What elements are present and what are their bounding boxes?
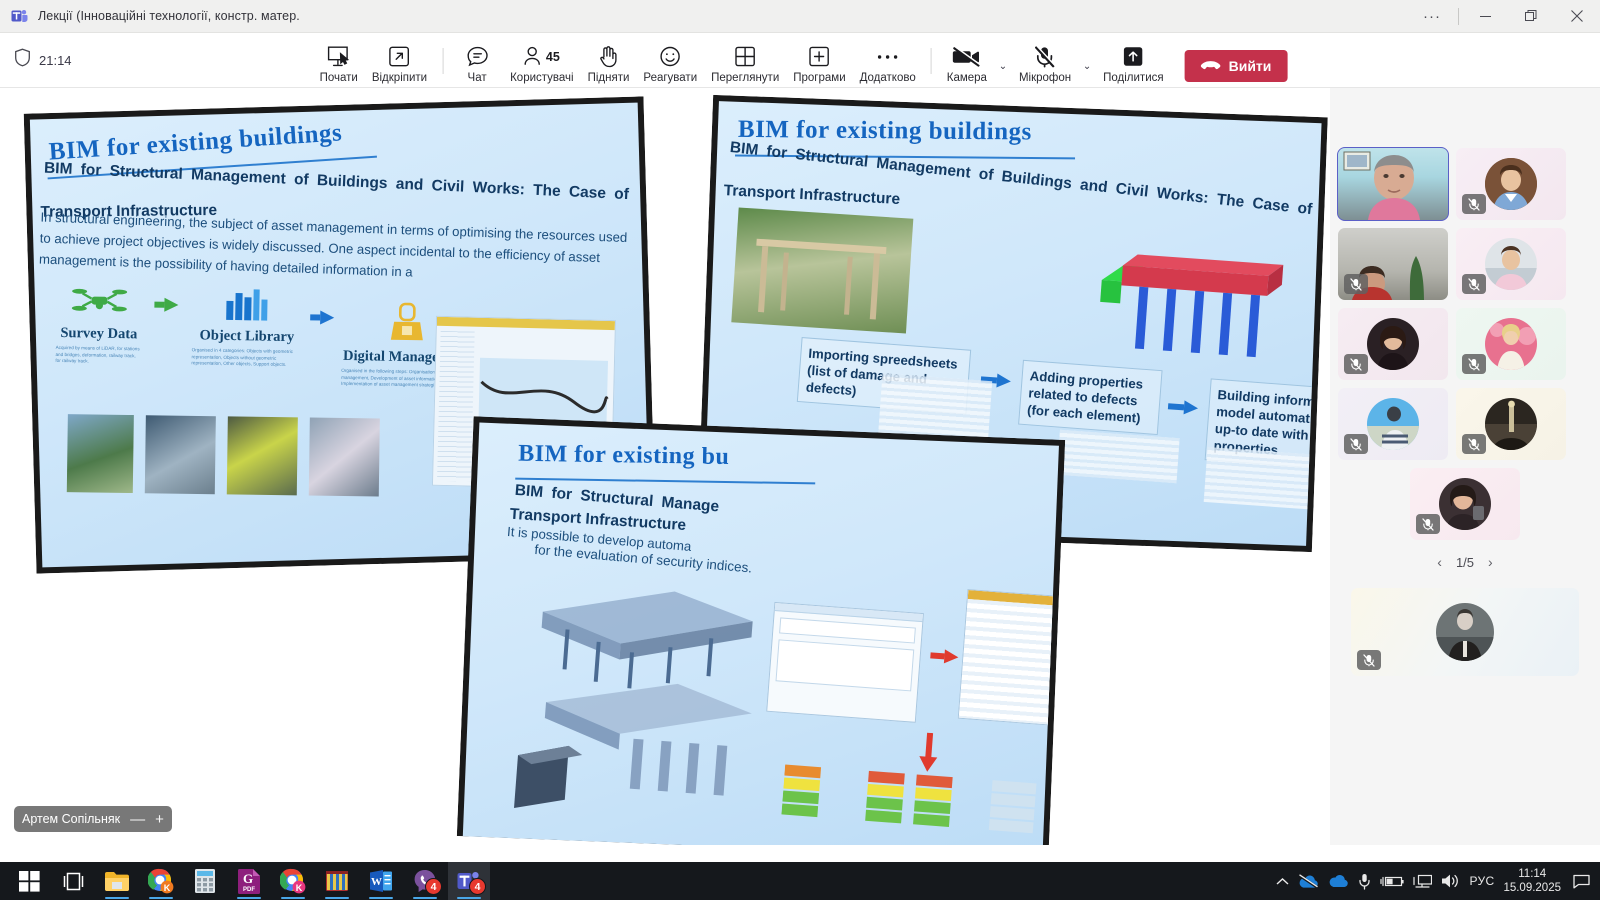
projected-slide-3: BIM for existing bu BIM for Structural M… [457,416,1065,845]
titlebar-divider [1458,8,1459,25]
participant-tile-3[interactable] [1338,228,1448,300]
meeting-toolbar: 21:14 Почати [0,33,1600,88]
toolbar-label-chat: Чат [468,72,487,84]
volume-icon[interactable] [1441,873,1461,889]
toolbar-left: 21:14 [0,48,72,72]
slide-2-subtitle-line2: Transport Infrastructure [723,182,900,209]
view-grid-icon [735,44,756,70]
slide-3-arrow-head [944,649,959,664]
slide-2-heading: BIM for existing buildings [738,116,1032,147]
avatar [1436,603,1494,661]
avatar [1485,238,1537,290]
participant-tile-8[interactable] [1456,388,1566,460]
participant-tile-9[interactable] [1410,468,1520,540]
slide-1-photo-strip [67,414,380,496]
slide-3-arrow-stem [930,652,944,659]
gate-icon [390,329,424,347]
participant-tile-2[interactable] [1456,148,1566,220]
toolbar-label-apps: Програми [793,72,845,84]
toolbar-item-more[interactable]: Додатково [853,38,923,88]
slide-1-photo-3 [227,416,298,495]
slide-1-flow-detail-1: Acquired by means of LiDAR, for stations… [55,345,141,366]
avatar [1485,318,1537,370]
microphone-icon[interactable] [1358,873,1371,890]
teams-logo-icon [10,7,28,25]
svg-text:W: W [371,876,382,888]
slide-2-arrow-2-head [1184,400,1199,415]
participant-tile-6[interactable] [1456,308,1566,380]
clock[interactable]: 11:14 15.09.2025 [1503,867,1561,896]
slide-3-matrix [780,761,1045,845]
participant-tile-10[interactable] [1351,588,1579,676]
network-icon[interactable] [1413,874,1432,889]
toolbar-label-share: Поділитися [1103,72,1163,84]
meeting-timer: 21:14 [39,53,72,68]
toolbar-item-start-present[interactable]: Почати [313,38,365,88]
share-up-icon [1123,44,1144,70]
pagination-next-chevron-icon[interactable]: › [1488,554,1493,570]
toolbar-label-participants: Користувачі [510,72,573,84]
slide-3-beam-diagrams [508,570,776,833]
battery-charging-icon[interactable] [1380,875,1404,888]
restore-button[interactable] [1508,0,1554,33]
leave-button-label: Вийти [1229,58,1272,74]
avatar [1485,398,1537,450]
close-button[interactable] [1554,0,1600,33]
shared-content-stage[interactable]: BIM for existing buildings BIM for Struc… [0,88,1330,845]
mute-badge [1416,514,1440,534]
camera-off-icon [953,44,981,70]
toolbar-label-reactions: Реагувати [643,72,697,84]
slide-1-flow-detail-2: Organised in 4 categories: Objects with … [191,347,301,368]
slide-2-table-3 [1204,447,1322,511]
slide-1-heading: BIM for existing buildings [48,119,343,166]
pagination-label: 1/5 [1456,555,1474,570]
titlebar-more-button[interactable]: ··· [1409,0,1455,33]
toolbar-item-raise-hand[interactable]: Підняти [581,38,637,88]
winrar-icon[interactable] [316,862,358,900]
mute-badge [1344,274,1368,294]
gpdf-icon[interactable]: G PDF [228,862,270,900]
svg-text:PDF: PDF [243,887,255,893]
slide-3-arrow-right [930,648,959,664]
avatar [1367,318,1419,370]
microphone-off-icon [1034,44,1056,70]
participant-tile-grid [1338,148,1592,540]
word-icon[interactable]: W [360,862,402,900]
slide-1-flow-label-1: Survey Data [56,325,142,343]
participant-roster: ‹ 1/5 › [1330,88,1600,845]
toolbar-actions: Почати Відкріпити [313,33,1288,88]
slide-1-body: In structural engineering, the subject o… [39,207,641,291]
apps-plus-icon [809,44,830,70]
avatar [1439,478,1491,530]
slide-1-arrow-1 [164,298,178,312]
slide-2-subtitle-line1: BIM for Structural Management of Buildin… [729,139,1318,220]
teams-badge: 4 [469,878,486,895]
toolbar-item-share[interactable]: Поділитися [1096,38,1170,88]
slide-3-rule [515,478,815,485]
svg-text:G: G [243,871,253,886]
window-title: Лекції (Інноваційні технології, констр. … [38,9,300,23]
raise-hand-icon [598,44,618,70]
roster-separator [1338,570,1592,588]
teams-icon[interactable]: 4 [448,862,490,900]
slide-1-arrow-2 [320,311,334,325]
zoom-out-button[interactable]: — [130,812,145,827]
slide-1-photo-4 [309,418,380,497]
slide-1-subtitle-line1: BIM for Structural Management of Buildin… [44,160,634,205]
slide-3-dialog [766,602,924,723]
avatar [1367,398,1419,450]
presenter-name-label: Артем Сопільняк [22,812,120,826]
svg-text:K: K [296,883,303,893]
viber-badge: 4 [425,878,442,895]
taskbar-apps: K G PDF [0,862,490,900]
title-bar: Лекції (Інноваційні технології, констр. … [0,0,1600,33]
slide-2-photo [731,207,913,333]
language-indicator[interactable]: РУС [1470,874,1495,888]
task-view-icon[interactable] [52,862,94,900]
slide-2-arrow-2 [1168,399,1199,415]
slide-2-arrow-1-head [996,374,1011,389]
mute-badge [1462,274,1486,294]
roster-pagination: ‹ 1/5 › [1338,554,1592,570]
toolbar-item-apps[interactable]: Програми [786,38,852,88]
toolbar-item-reactions[interactable]: Реагувати [636,38,704,88]
windows-start-icon[interactable] [8,862,50,900]
toolbar-item-microphone[interactable]: Мікрофон [1012,38,1078,88]
toolbar-label-view: Переглянути [711,72,779,84]
slide-surface-3: BIM for existing bu BIM for Structural M… [463,423,1059,845]
toolbar-divider-1 [442,48,443,74]
window-controls: ··· [1409,0,1600,33]
present-screen-icon [326,44,351,70]
slide-2-arrow-2-stem [1168,403,1184,410]
reactions-smiley-icon [660,44,681,70]
mute-badge [1357,650,1381,670]
chrome-k-icon[interactable]: K [140,862,182,900]
toolbar-item-participants[interactable]: 45 Користувачі [503,38,580,88]
microphone-chevron-down-icon[interactable]: ⌄ [1078,61,1096,88]
viber-icon[interactable]: 4 [404,862,446,900]
svg-text:K: K [164,883,171,893]
people-icon: 45 [524,44,560,70]
toolbar-label-start: Почати [320,72,358,84]
pagination-prev-chevron-icon[interactable]: ‹ [1437,554,1442,570]
system-tray: РУС 11:14 15.09.2025 [1276,867,1600,896]
participant-tile-1[interactable] [1338,148,1448,220]
slide-1-photo-1 [67,414,134,493]
toolbar-label-more: Додатково [860,72,916,84]
slide-2-table-2 [1057,430,1180,483]
slide-3-heading: BIM for existing bu [518,441,729,471]
toolbar-divider-2 [931,48,932,74]
onedrive-offline-icon[interactable] [1298,874,1319,889]
clock-time: 11:14 [1503,867,1561,881]
slide-1-arrow-1-stem [154,302,164,308]
toolbar-label-microphone: Мікрофон [1019,72,1071,84]
slide-1-flow-label-2: Object Library [192,327,302,346]
presenter-name-pill: Артем Сопільняк — + [14,806,172,832]
shield-icon [14,48,31,72]
toolbar-item-chat[interactable]: Чат [451,38,503,88]
mute-badge [1462,194,1486,214]
bar-library-icon [224,308,270,326]
toolbar-label-pop-out: Відкріпити [372,72,427,84]
hang-up-icon [1201,58,1221,74]
pop-out-icon [389,44,410,70]
calculator-icon[interactable] [184,862,226,900]
toolbar-label-camera: Камера [947,72,987,84]
participant-tile-4[interactable] [1456,228,1566,300]
slide-3-data-table [958,589,1059,733]
drone-icon [71,305,127,323]
mute-badge [1462,434,1486,454]
windows-taskbar: K G PDF [0,862,1600,900]
toolbar-item-camera[interactable]: Камера [940,38,994,88]
mute-badge [1462,354,1486,374]
zoom-in-button[interactable]: + [155,812,164,827]
toolbar-label-raise-hand: Підняти [588,72,630,84]
slide-1-arrow-2-stem [310,314,320,320]
notification-icon[interactable] [1570,874,1592,889]
clock-date: 15.09.2025 [1503,881,1561,895]
camera-chevron-down-icon[interactable]: ⌄ [994,61,1012,88]
onedrive-icon[interactable] [1328,874,1349,888]
mute-badge [1344,434,1368,454]
participant-tile-5[interactable] [1338,308,1448,380]
slide-2-bridge-model [1089,240,1298,394]
leave-meeting-button[interactable]: Вийти [1185,50,1288,82]
chat-icon [466,44,488,70]
participant-tile-7[interactable] [1338,388,1448,460]
minimize-button[interactable] [1462,0,1508,33]
avatar [1485,158,1537,210]
tray-chevron-up-icon[interactable] [1276,877,1289,886]
chrome-pink-k-icon[interactable]: K [272,862,314,900]
toolbar-item-view[interactable]: Переглянути [704,38,786,88]
mute-badge [1344,354,1368,374]
slide-1-photo-2 [145,415,216,494]
toolbar-item-pop-out[interactable]: Відкріпити [365,38,434,88]
teams-meeting-window: Лекції (Інноваційні технології, констр. … [0,0,1600,900]
more-ellipsis-icon [877,44,899,70]
file-explorer-icon[interactable] [96,862,138,900]
participant-count: 45 [546,50,560,64]
